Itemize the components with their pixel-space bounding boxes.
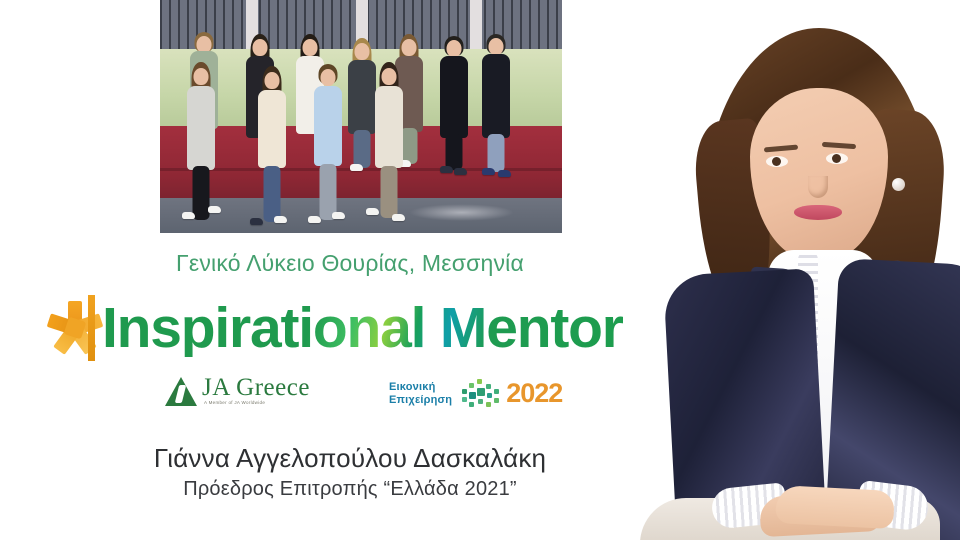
ve-line-1: Εικονική [389, 381, 452, 394]
inspirational-mentor-title: Inspirational Mentor [102, 300, 623, 357]
portrait-nose [808, 176, 828, 198]
virtual-enterprise-label: Εικονική Επιχείρηση [389, 381, 452, 406]
logos-row: JA Greece A Member of JA Worldwide Εικον… [0, 374, 700, 414]
school-name: Γενικό Λύκειο Θουρίας, Μεσσηνία [0, 250, 700, 277]
portrait-eye-right [826, 153, 848, 164]
ja-greece-label: JA Greece [202, 376, 310, 400]
slide-root: Γενικό Λύκειο Θουρίας, Μεσσηνία Inspirat… [0, 0, 960, 540]
group-photo [160, 0, 562, 233]
portrait-lips [794, 205, 842, 220]
title-lockup: Inspirational Mentor [44, 292, 694, 364]
portrait-eye-left [766, 156, 788, 167]
ja-greece-logo: JA Greece A Member of JA Worldwide [165, 376, 310, 406]
ja-triangle-icon [165, 377, 197, 406]
virtual-enterprise-logo: Εικονική Επιχείρηση 2022 [389, 378, 562, 409]
photo-fence-post [470, 0, 482, 51]
star-burst-icon [44, 293, 106, 363]
speaker-portrait [600, 0, 960, 540]
portrait-face [750, 88, 888, 260]
speaker-role: Πρόεδρος Επιτροπής “Ελλάδα 2021” [0, 478, 700, 501]
dot-cluster-icon [460, 379, 502, 409]
speaker-name: Γιάννα Αγγελοπούλου Δασκαλάκη [0, 443, 700, 474]
pearl-earring-icon [892, 178, 905, 191]
ve-line-2: Επιχείρηση [389, 394, 452, 407]
year-2022: 2022 [506, 378, 562, 409]
photo-ground [160, 198, 562, 233]
portrait-hand-upper [775, 485, 895, 529]
